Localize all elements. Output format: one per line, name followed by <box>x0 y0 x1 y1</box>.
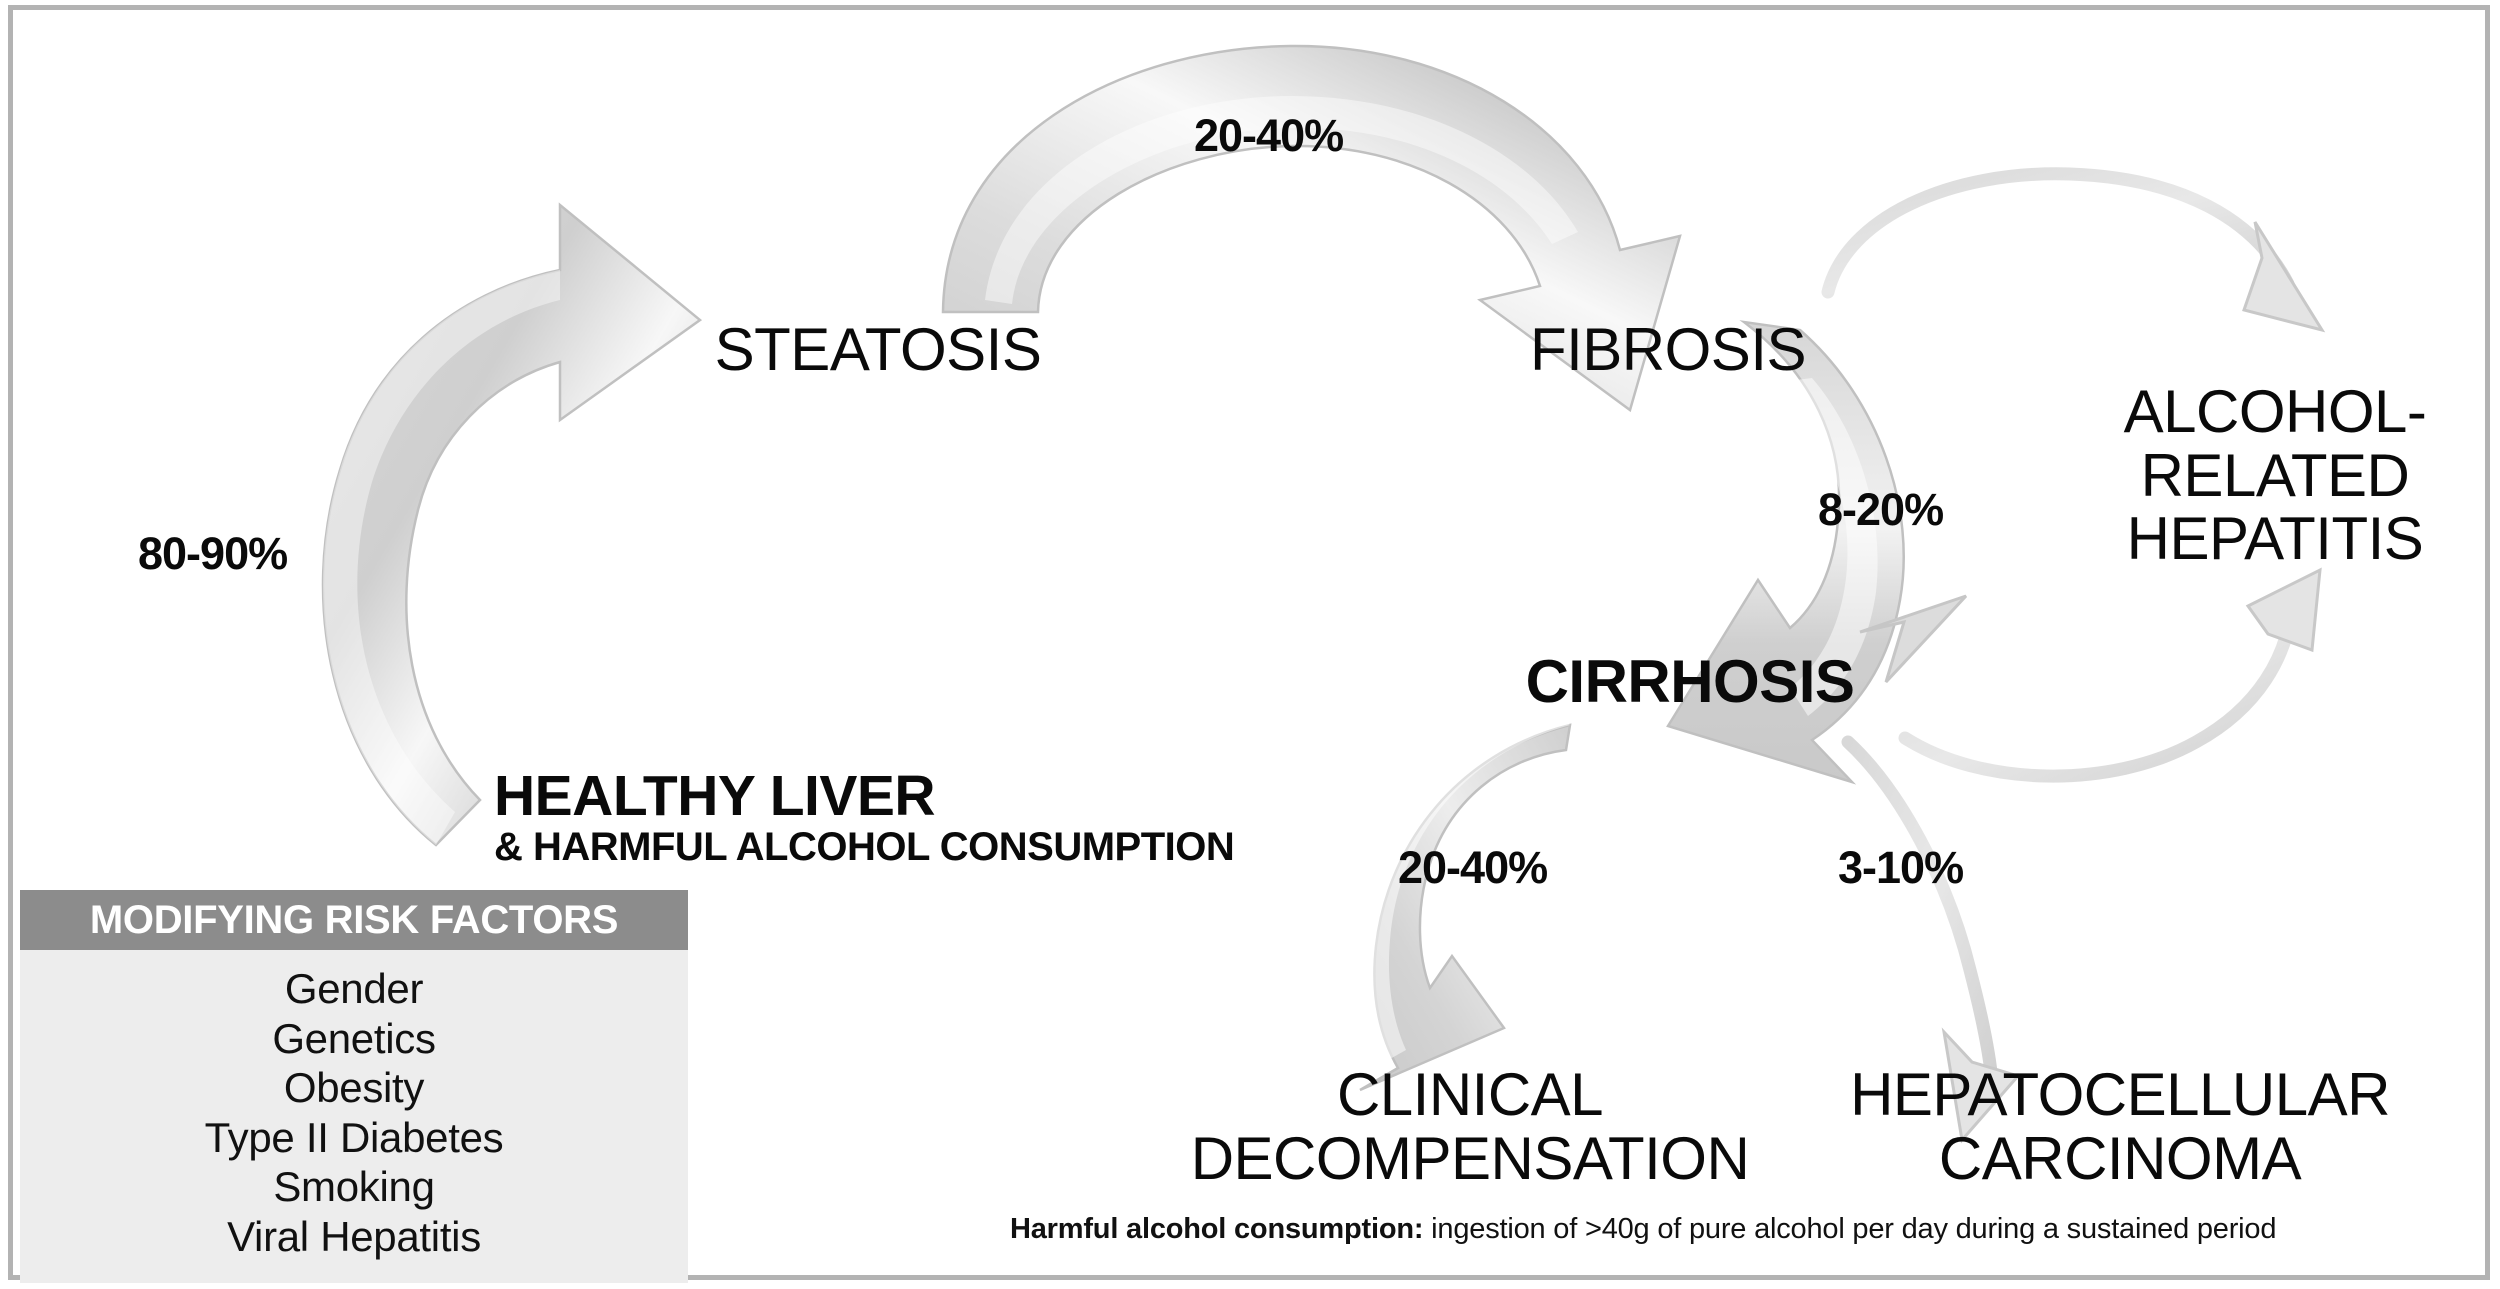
node-cirrhosis: CIRRHOSIS <box>1520 650 1860 714</box>
node-fibrosis: FIBROSIS <box>1498 318 1838 382</box>
risk-factors-header: MODIFYING RISK FACTORS <box>20 890 688 950</box>
risk-factor-item: Obesity <box>20 1063 688 1113</box>
risk-factor-item: Gender <box>20 964 688 1014</box>
risk-factor-item: Type II Diabetes <box>20 1113 688 1163</box>
footnote-text: ingestion of >40g of pure alcohol per da… <box>1423 1213 2276 1245</box>
edge-label-healthy-to-steatosis: 80-90% <box>138 528 287 580</box>
edge-label-cirrhosis-to-decompensation: 20-40% <box>1398 842 1547 894</box>
edge-label-cirrhosis-to-hcc: 3-10% <box>1838 842 1963 894</box>
node-alcohol-related-hepatitis: ALCOHOL- RELATED HEPATITIS <box>2075 380 2475 571</box>
risk-factor-item: Viral Hepatitis <box>20 1212 688 1262</box>
node-clinical-decompensation: CLINICAL DECOMPENSATION <box>1120 1063 1820 1190</box>
footnote: Harmful alcohol consumption: ingestion o… <box>1010 1213 2276 1246</box>
risk-factor-item: Smoking <box>20 1162 688 1212</box>
edge-label-steatosis-to-fibrosis: 20-40% <box>1194 110 1343 162</box>
risk-factor-item: Genetics <box>20 1014 688 1064</box>
diagram-canvas: STEATOSIS FIBROSIS ALCOHOL- RELATED HEPA… <box>0 0 2500 1289</box>
healthy-liver-line1: HEALTHY LIVER <box>494 768 1234 825</box>
modifying-risk-factors-panel: MODIFYING RISK FACTORS Gender Genetics O… <box>20 890 688 1283</box>
node-healthy-liver: HEALTHY LIVER & HARMFUL ALCOHOL CONSUMPT… <box>494 768 1234 870</box>
healthy-liver-line2: & HARMFUL ALCOHOL CONSUMPTION <box>494 825 1234 870</box>
footnote-label: Harmful alcohol consumption: <box>1010 1213 1423 1245</box>
node-steatosis: STEATOSIS <box>688 318 1068 382</box>
edge-label-fibrosis-to-cirrhosis: 8-20% <box>1818 484 1943 536</box>
risk-factors-list: Gender Genetics Obesity Type II Diabetes… <box>20 950 688 1283</box>
node-hepatocellular-carcinoma: HEPATOCELLULAR CARCINOMA <box>1760 1063 2480 1190</box>
